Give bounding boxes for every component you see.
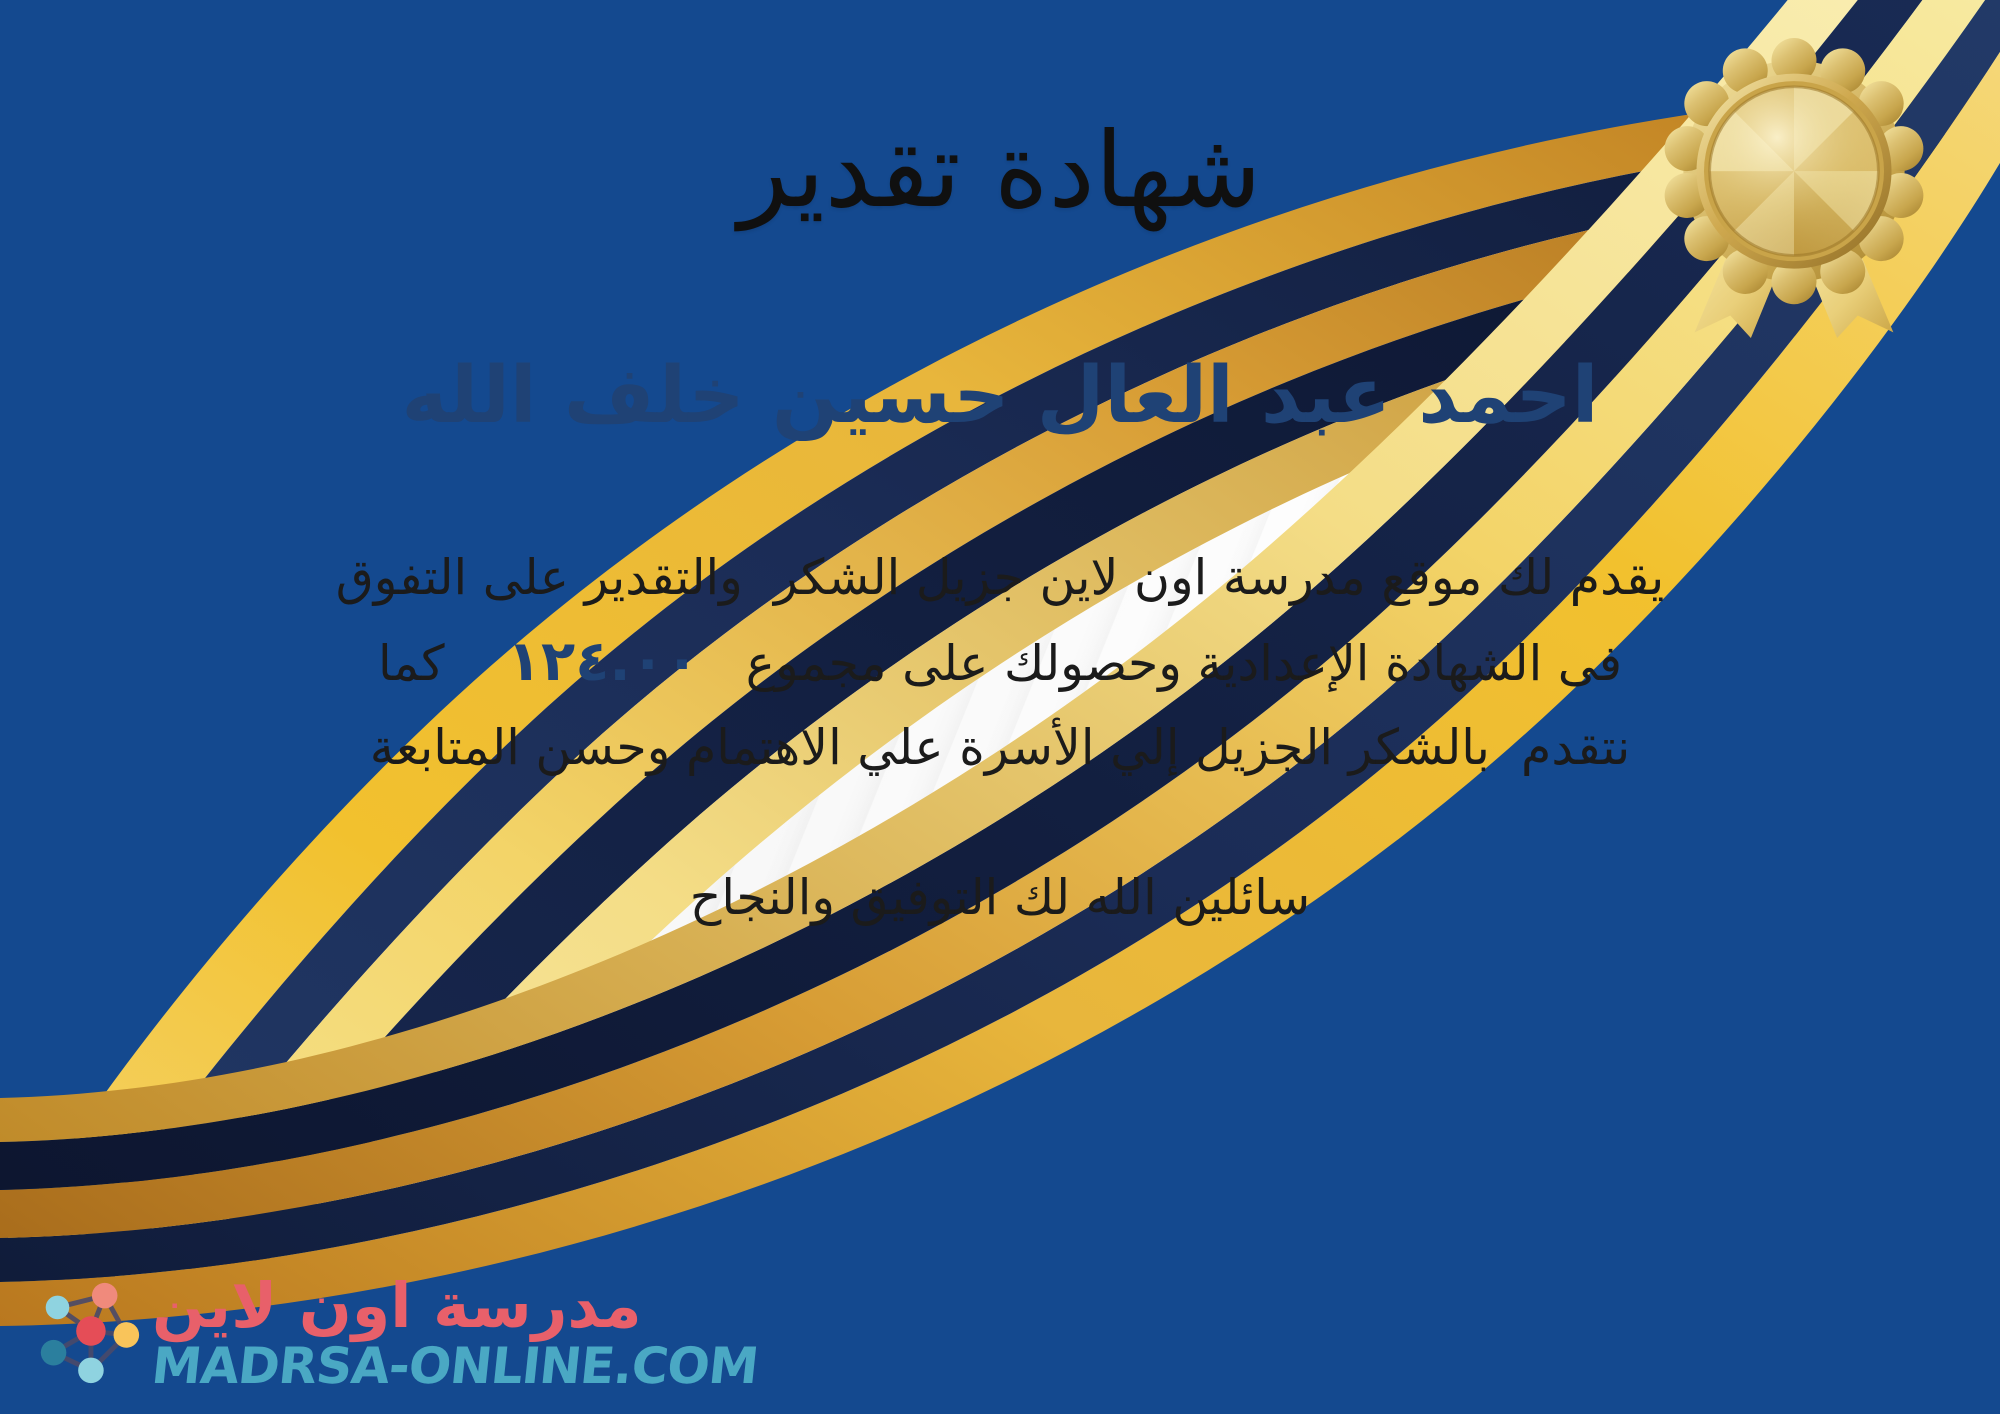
network-nodes-icon	[28, 1274, 146, 1392]
recipient-name: احمد عبد العال حسين خلف الله	[402, 352, 1599, 442]
certificate-body: يقدم لك موقع مدرسة اون لاين جزيل الشكر و…	[120, 538, 1880, 787]
body-line-1: يقدم لك موقع مدرسة اون لاين جزيل الشكر و…	[120, 538, 1880, 617]
logo-arabic-name: مدرسة اون لاين	[152, 1275, 642, 1337]
page-title: شهادة تقدير	[738, 118, 1261, 222]
logo-wordmark: مدرسة اون لاين MADRSA-ONLINE.COM	[152, 1275, 758, 1391]
gold-award-medal-icon	[1644, 38, 1944, 338]
body-line-2-prefix: فى الشهادة الإعدادية وحصولك على مجموع	[746, 635, 1622, 692]
closing-line: سائلين الله لك التوفيق والنجاح	[690, 861, 1310, 935]
logo-url: MADRSA-ONLINE.COM	[149, 1341, 760, 1391]
certificate-canvas: شهادة تقدير احمد عبد العال حسين خلف الله…	[0, 0, 2000, 1414]
body-line-3: نتقدم بالشكر الجزيل إلي الأسرة علي الاهت…	[120, 708, 1880, 787]
site-logo[interactable]: مدرسة اون لاين MADRSA-ONLINE.COM	[28, 1274, 758, 1392]
body-line-2: فى الشهادة الإعدادية وحصولك على مجموع ١٢…	[120, 617, 1880, 708]
score-value: ١٢٤.٠٠	[507, 629, 699, 694]
body-line-2-suffix: كما	[378, 635, 445, 692]
